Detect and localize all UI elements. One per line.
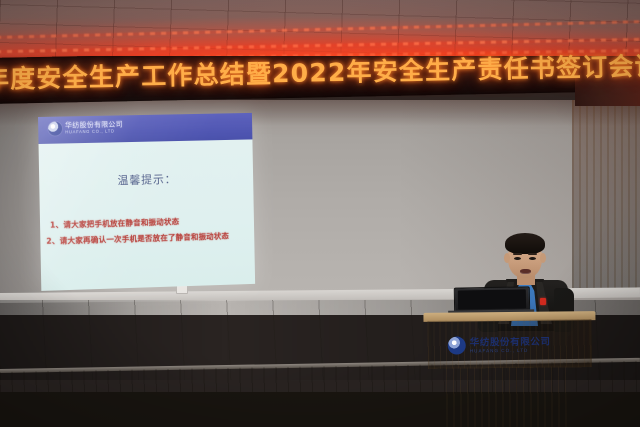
speaker-eye-right <box>529 257 536 260</box>
speaker-eyebrow-left <box>513 253 522 255</box>
speaker-eye-left <box>514 257 521 260</box>
podium-column <box>446 366 567 427</box>
presentation-photo-scene: 年度安全生产工作总结暨2022年安全生产责任书签订会议 华纺股份有限公司 HUA… <box>0 0 640 427</box>
speaker-hair <box>505 233 545 254</box>
speaker-ear-right <box>540 253 546 263</box>
wood-wall-panel <box>572 100 640 296</box>
speaker-mouth <box>520 269 531 274</box>
huafang-logo-icon <box>448 336 466 354</box>
projection-screen: 华纺股份有限公司 HUAFANG CO., LTD 温馨提示： 1、请大家把手机… <box>38 113 255 291</box>
speaker-eyebrow-right <box>528 253 537 255</box>
slide-body: 温馨提示： 1、请大家把手机放在静音和振动状态 2、请大家再确认一次手机是否放在… <box>39 139 256 291</box>
podium-company-logo: 华纺股份有限公司 HUAFANG CO., LTD <box>448 336 551 355</box>
slide-bullet-list: 1、请大家把手机放在静音和振动状态 2、请大家再确认一次手机是否放在了静音和振动… <box>46 212 249 249</box>
podium-company-name-en: HUAFANG CO., LTD <box>470 347 551 354</box>
wood-panel-shadow <box>572 100 640 296</box>
speaker-lapel-badge <box>540 298 546 305</box>
podium-company-name-cn: 华纺股份有限公司 <box>470 336 551 348</box>
speaker-ear-left <box>504 253 510 263</box>
slide-title: 温馨提示： <box>39 169 253 190</box>
huafang-logo-icon <box>48 122 62 136</box>
slide-company-name-en: HUAFANG CO., LTD <box>65 128 123 135</box>
slide-company-logo: 华纺股份有限公司 HUAFANG CO., LTD <box>48 120 123 135</box>
podium: 华纺股份有限公司 HUAFANG CO., LTD <box>423 311 596 427</box>
laptop-display <box>458 289 526 309</box>
podium-front-panel: 华纺股份有限公司 HUAFANG CO., LTD <box>427 319 591 369</box>
